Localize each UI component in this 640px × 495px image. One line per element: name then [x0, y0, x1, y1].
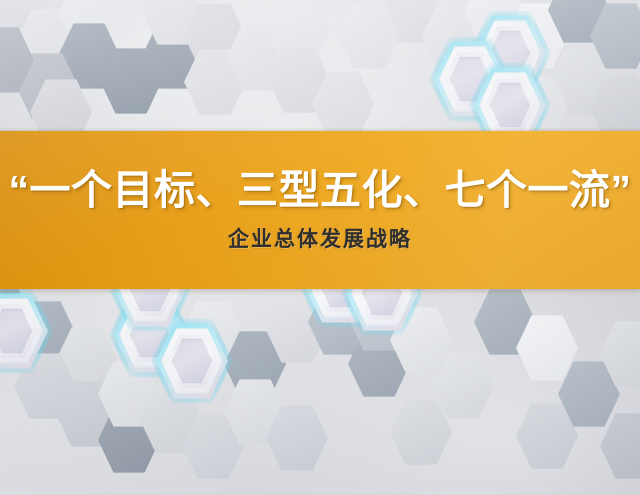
page-title: “一个目标、三型五化、七个一流”: [9, 168, 632, 214]
glowing-hexagon: [160, 326, 224, 396]
page-subtitle: 企业总体发展战略: [228, 228, 412, 252]
glowing-hexagon: [478, 70, 542, 140]
title-banner: “一个目标、三型五化、七个一流” 企业总体发展战略: [0, 131, 640, 289]
glowing-hexagon: [0, 296, 44, 366]
presentation-slide: “一个目标、三型五化、七个一流” 企业总体发展战略: [0, 0, 640, 495]
banner-content: “一个目标、三型五化、七个一流” 企业总体发展战略: [0, 131, 640, 289]
